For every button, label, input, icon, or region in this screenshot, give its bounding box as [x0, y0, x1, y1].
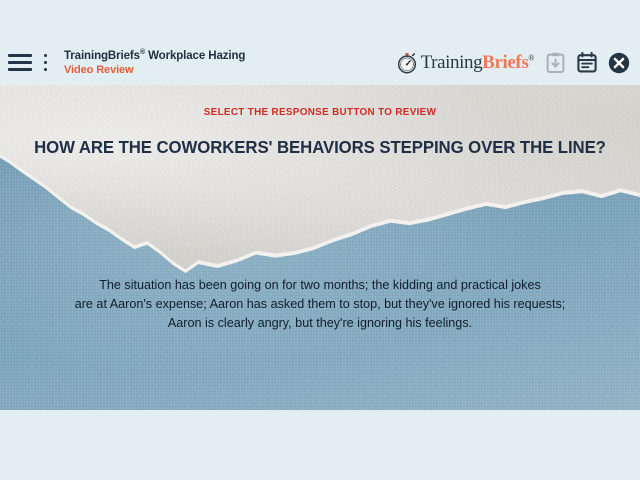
hamburger-menu-icon[interactable] [8, 54, 32, 71]
stopwatch-icon [396, 52, 418, 74]
response-body-text: The situation has been going on for two … [48, 275, 591, 332]
logo-registered-mark: ® [528, 53, 534, 62]
question-heading: HOW ARE THE COWORKERS' BEHAVIORS STEPPIN… [13, 137, 627, 158]
kebab-dot [44, 68, 47, 71]
logo-word-training: Training [421, 52, 483, 73]
kebab-dot [44, 54, 47, 57]
course-title: TrainingBriefs® Workplace Hazing [64, 49, 245, 63]
slide-canvas: SELECT THE RESPONSE BUTTON TO REVIEW HOW… [0, 85, 640, 410]
more-options-icon[interactable] [40, 54, 50, 71]
section-label: Video Review [64, 64, 245, 76]
kebab-dot [44, 61, 47, 64]
course-title-brand: TrainingBriefs [64, 50, 140, 62]
course-title-topic: Workplace Hazing [145, 50, 245, 62]
instruction-eyebrow: SELECT THE RESPONSE BUTTON TO REVIEW [19, 106, 621, 118]
course-player: TrainingBriefs® Workplace Hazing Video R… [0, 0, 640, 480]
logo-word-briefs: Briefs [482, 52, 528, 73]
body-line: Aaron is clearly angry, but they're igno… [48, 313, 591, 332]
header-titles: TrainingBriefs® Workplace Hazing Video R… [64, 49, 245, 76]
close-icon[interactable] [608, 52, 630, 74]
header-right-group: TrainingBriefs® [396, 52, 630, 74]
notes-calendar-icon[interactable] [576, 52, 598, 74]
trainingbriefs-logo: TrainingBriefs® [396, 52, 534, 74]
hamburger-line [8, 54, 32, 57]
header-left-group: TrainingBriefs® Workplace Hazing Video R… [8, 49, 245, 76]
body-line: The situation has been going on for two … [48, 275, 591, 294]
body-line: are at Aaron's expense; Aaron has asked … [48, 294, 591, 313]
player-header: TrainingBriefs® Workplace Hazing Video R… [0, 40, 640, 85]
logo-wordmark: TrainingBriefs® [421, 52, 534, 74]
resources-clipboard-icon[interactable] [544, 52, 566, 74]
hamburger-line [8, 61, 32, 64]
hamburger-line [8, 68, 32, 71]
